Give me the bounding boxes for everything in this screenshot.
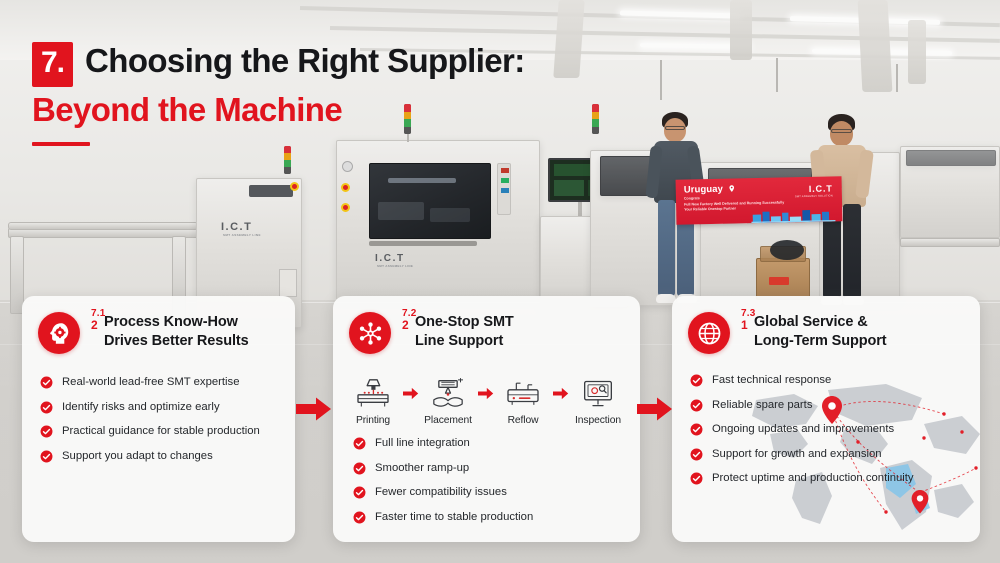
card-kicker-overlay: 2 <box>91 319 98 331</box>
page-title-line1: Choosing the Right Supplier: <box>85 44 525 79</box>
machine-door-panel <box>279 269 297 297</box>
card-global-service-long-term-support[interactable]: 7.3 1 Global Service & Long-Term Support… <box>672 296 980 542</box>
check-circle-icon <box>690 448 703 461</box>
list-item-label: Smoother ramp-up <box>375 462 469 476</box>
list-item-label: Fewer compatibility issues <box>375 486 507 500</box>
smt-process-flow: Printing Placement <box>333 362 640 426</box>
list-item: Support for growth and expansion <box>690 448 966 462</box>
card-header: 7.3 1 Global Service & Long-Term Support <box>672 296 980 354</box>
machine-brand-label: I.C.T <box>375 253 405 264</box>
card-title-group: 7.1 2 Process Know-How Drives Better Res… <box>91 312 249 352</box>
flow-step-label: Printing <box>347 415 399 426</box>
list-item-label: Practical guidance for stable production <box>62 425 260 439</box>
flow-step-label: Placement <box>422 415 474 426</box>
check-circle-icon <box>40 401 53 414</box>
conveyor-rail <box>900 238 1000 247</box>
list-item: Full line integration <box>353 437 626 451</box>
air-duct <box>730 0 752 60</box>
smt-printer-machine: I.C.T SMT ASSEMBLY LINE <box>336 140 540 300</box>
list-item-label: Ongoing updates and improvements <box>712 423 894 437</box>
list-item-label: Support you adapt to changes <box>62 450 213 464</box>
list-item-label: Faster time to stable production <box>375 511 533 525</box>
slide-canvas: I.C.T SMT ASSEMBLY LINE I.C.T SMT ASSEMB… <box>0 0 1000 563</box>
check-circle-icon <box>40 376 53 389</box>
machine-brand-label: I.C.T <box>221 221 252 233</box>
card-title-line2: Drives Better Results <box>104 332 249 351</box>
flow-arrow <box>400 376 422 410</box>
check-circle-icon <box>353 486 366 499</box>
card-title-line1: Global Service & <box>754 314 868 330</box>
banner-country: Uruguay <box>684 184 723 196</box>
card-process-know-how[interactable]: 7.1 2 Process Know-How Drives Better Res… <box>22 296 295 542</box>
flow-arrow <box>475 376 497 410</box>
glasses-icon <box>831 129 852 133</box>
card-title-line2: Line Support <box>415 332 514 351</box>
carton-box <box>756 258 810 300</box>
machine-brand-sub: SMT ASSEMBLY LINE <box>223 233 261 237</box>
machine-top-panel <box>249 185 293 197</box>
card-title-group: 7.2 2 One-Stop SMT Line Support <box>402 312 514 352</box>
pick-and-place-icon <box>428 378 468 410</box>
check-circle-icon <box>353 511 366 524</box>
card-icon-badge <box>38 312 80 354</box>
list-item: Smoother ramp-up <box>353 462 626 476</box>
card-title-line2: Long-Term Support <box>754 332 887 351</box>
check-circle-icon <box>690 374 703 387</box>
conveyor-leg <box>10 236 24 314</box>
list-item: Identify risks and optimize early <box>40 401 281 415</box>
card-title-group: 7.3 1 Global Service & Long-Term Support <box>741 312 887 352</box>
card-icon-badge <box>349 312 391 354</box>
control-strip <box>497 163 511 215</box>
check-circle-icon <box>690 399 703 412</box>
flow-step-reflow: Reflow <box>497 376 549 426</box>
list-item: Protect uptime and production continuity <box>690 472 966 486</box>
section-number-badge: 7. <box>32 42 73 87</box>
hanging-pole <box>896 64 898 92</box>
check-circle-icon <box>353 437 366 450</box>
list-item-label: Identify risks and optimize early <box>62 401 220 415</box>
title-block: 7. Choosing the Right Supplier: Beyond t… <box>32 42 525 146</box>
list-item-label: Fast technical response <box>712 374 831 388</box>
gauge-icon <box>342 161 353 172</box>
emergency-stop-button <box>341 183 350 192</box>
conveyor-top <box>8 222 198 230</box>
card-title-line1: One-Stop SMT <box>415 314 514 330</box>
map-marker <box>912 490 929 514</box>
list-item-label: Full line integration <box>375 437 470 451</box>
oven-top <box>906 150 996 166</box>
flow-arrow <box>550 376 572 410</box>
hanging-pole <box>660 60 662 100</box>
flow-step-placement: Placement <box>422 376 474 426</box>
connector-arrow-1 <box>296 396 332 422</box>
list-item: Support you adapt to changes <box>40 450 281 464</box>
card-icon-badge <box>688 312 730 354</box>
air-duct <box>908 20 926 84</box>
machine-brand-sub: SMT ASSEMBLY LINE <box>377 264 413 268</box>
printer-window <box>369 163 491 239</box>
reflow-oven-icon <box>503 378 543 410</box>
title-underline <box>32 142 90 146</box>
check-circle-icon <box>40 425 53 438</box>
arrow-right-icon <box>553 387 569 400</box>
machine-handle <box>369 241 477 246</box>
list-item: Fewer compatibility issues <box>353 486 626 500</box>
emergency-stop-button <box>290 182 299 191</box>
flow-step-printing: Printing <box>347 376 399 426</box>
emergency-stop-button <box>341 203 350 212</box>
list-item-label: Real-world lead-free SMT expertise <box>62 376 239 390</box>
banner-logo-sub: SMT ASSEMBLY SOLUTION <box>795 194 833 198</box>
list-item: Faster time to stable production <box>353 511 626 525</box>
banner-logo: I.C.T <box>809 183 833 194</box>
arrow-right-icon <box>478 387 494 400</box>
list-item-label: Protect uptime and production continuity <box>712 472 914 486</box>
list-item-label: Reliable spare parts <box>712 399 812 413</box>
aoi-monitor-icon <box>578 378 618 410</box>
bullet-list: Fast technical response Reliable spare p… <box>672 374 980 486</box>
page-title-line2: Beyond the Machine <box>32 93 525 128</box>
check-circle-icon <box>690 423 703 436</box>
arrow-right-icon <box>403 387 419 400</box>
congratulations-banner: Uruguay Congrats Full New Factory Well D… <box>676 176 843 224</box>
list-item: Reliable spare parts <box>690 399 966 413</box>
signal-tower <box>592 104 599 134</box>
bullet-list: Real-world lead-free SMT expertise Ident… <box>22 376 295 463</box>
network-nodes-icon <box>358 321 383 346</box>
card-kicker-overlay: 2 <box>402 319 409 331</box>
flow-step-label: Reflow <box>497 415 549 426</box>
flow-step-label: Inspection <box>572 415 624 426</box>
air-duct <box>553 0 584 78</box>
card-header: 7.2 2 One-Stop SMT Line Support <box>333 296 640 354</box>
location-pin-icon <box>728 184 736 192</box>
flow-step-inspection: Inspection <box>572 376 624 426</box>
check-circle-icon <box>690 472 703 485</box>
connector-arrow-2 <box>637 396 673 422</box>
signal-tower <box>284 146 291 174</box>
city-skyline-icon <box>750 207 836 223</box>
card-header: 7.1 2 Process Know-How Drives Better Res… <box>22 296 295 354</box>
globe-icon <box>697 321 722 346</box>
list-item-label: Support for growth and expansion <box>712 448 882 462</box>
bullet-list: Full line integration Smoother ramp-up F… <box>333 437 640 524</box>
banner-line3: Your Reliable Onestop Partner <box>684 206 736 212</box>
check-circle-icon <box>40 450 53 463</box>
stencil-printer-icon <box>353 378 393 410</box>
air-duct <box>858 0 893 92</box>
head-gear-icon <box>47 321 72 346</box>
carton-contents <box>770 240 804 260</box>
list-item: Real-world lead-free SMT expertise <box>40 376 281 390</box>
glasses-icon <box>665 126 685 130</box>
list-item: Practical guidance for stable production <box>40 425 281 439</box>
hanging-pole <box>776 58 778 92</box>
check-circle-icon <box>353 462 366 475</box>
list-item: Ongoing updates and improvements <box>690 423 966 437</box>
card-kicker-overlay: 1 <box>741 319 748 331</box>
card-one-stop-smt-line-support[interactable]: 7.2 2 One-Stop SMT Line Support <box>333 296 640 542</box>
card-title-line1: Process Know-How <box>104 314 238 330</box>
list-item: Fast technical response <box>690 374 966 388</box>
